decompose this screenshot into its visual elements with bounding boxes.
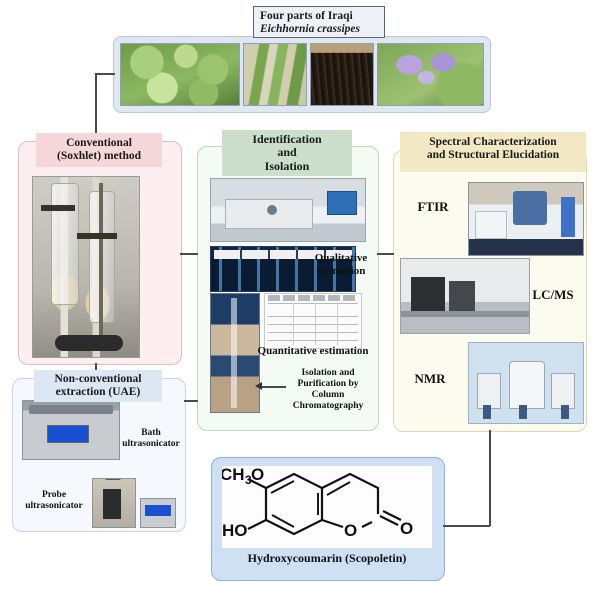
soxhlet-header: Conventional (Soxhlet) method bbox=[36, 133, 162, 167]
isolation-arrow-head bbox=[255, 382, 262, 390]
connector-soxhlet-to-identification bbox=[180, 253, 198, 255]
bath-ultrasonicator-image bbox=[22, 400, 120, 460]
graphical-abstract: Four parts of Iraqi Eichhornia crassipes… bbox=[0, 0, 600, 600]
connector-plant-to-soxhlet-horizontal bbox=[95, 73, 115, 75]
nmr-label: NMR bbox=[400, 372, 460, 387]
page-title-line1: Four parts of Iraqi bbox=[260, 10, 380, 23]
spectral-header-line2: and Structural Elucidation bbox=[400, 149, 586, 162]
probe-controller-image bbox=[140, 498, 176, 528]
probe-label-line2: ultrasonicator bbox=[22, 501, 86, 512]
soxhlet-apparatus-image bbox=[32, 176, 140, 358]
bath-ultrasonicator-label: Bath ultrasonicator bbox=[120, 428, 182, 450]
ftir-label: FTIR bbox=[404, 200, 462, 215]
connector-plant-to-soxhlet-vertical bbox=[95, 73, 97, 135]
atom-hydroxy: HO bbox=[222, 521, 248, 540]
page-title: Four parts of Iraqi Eichhornia crassipes bbox=[253, 6, 385, 38]
bath-label-line2: ultrasonicator bbox=[120, 439, 182, 450]
atom-methoxy-o: O bbox=[251, 466, 264, 484]
bath-label-line1: Bath bbox=[120, 428, 182, 439]
connector-spectral-to-structure-horizontal bbox=[443, 525, 490, 527]
atom-carbonyl-oxygen: O bbox=[400, 519, 413, 538]
quantitative-estimation-label: Quantitative estimation bbox=[254, 345, 372, 358]
uae-header-line1: Non-conventional bbox=[34, 373, 162, 386]
soxhlet-header-line2: (Soxhlet) method bbox=[36, 150, 162, 163]
photo-leaves bbox=[120, 43, 240, 106]
scopoletin-structure-image: CH 3 . O HO O O bbox=[222, 466, 432, 548]
identification-header: Identification and Isolation bbox=[222, 130, 352, 176]
nmr-spectrometer-image bbox=[468, 342, 584, 424]
identification-header-line2: and bbox=[222, 146, 352, 159]
quantitative-results-table-image bbox=[264, 293, 362, 349]
probe-ultrasonicator-label: Probe ultrasonicator bbox=[22, 490, 86, 512]
uae-header-line2: extraction (UAE) bbox=[34, 386, 162, 399]
identification-header-line3: Isolation bbox=[222, 160, 352, 173]
identification-header-line1: Identification bbox=[222, 133, 352, 146]
page-title-species: Eichhornia crassipes bbox=[260, 23, 380, 36]
ftir-spectrometer-image bbox=[468, 182, 584, 256]
structure-caption: Hydroxycoumarin (Scopoletin) bbox=[215, 552, 439, 566]
isolation-purification-label: Isolation and Purification by Column Chr… bbox=[282, 368, 374, 412]
spectral-header: Spectral Characterization and Structural… bbox=[400, 132, 586, 172]
connector-uae-to-identification bbox=[184, 400, 198, 402]
soxhlet-header-line1: Conventional bbox=[36, 137, 162, 150]
qualitative-estimation-label: Qualitative estimation bbox=[300, 252, 382, 277]
lcms-label: LC/MS bbox=[524, 288, 582, 303]
atom-methoxy-ch: CH bbox=[222, 466, 245, 484]
photo-roots bbox=[310, 43, 374, 106]
atom-ring-oxygen: O bbox=[344, 521, 357, 540]
plant-parts-panel bbox=[113, 36, 491, 113]
uae-header: Non-conventional extraction (UAE) bbox=[34, 370, 162, 402]
spectral-header-line1: Spectral Characterization bbox=[400, 136, 586, 149]
probe-label-line1: Probe bbox=[22, 490, 86, 501]
lcms-instrument-image bbox=[400, 258, 530, 334]
probe-ultrasonicator-image bbox=[92, 478, 136, 528]
photo-stems bbox=[243, 43, 307, 106]
hplc-instrument-image bbox=[210, 178, 366, 242]
connector-spectral-to-structure-vertical bbox=[489, 430, 491, 526]
column-chromatography-image bbox=[210, 293, 260, 413]
photo-flowers bbox=[377, 43, 484, 106]
